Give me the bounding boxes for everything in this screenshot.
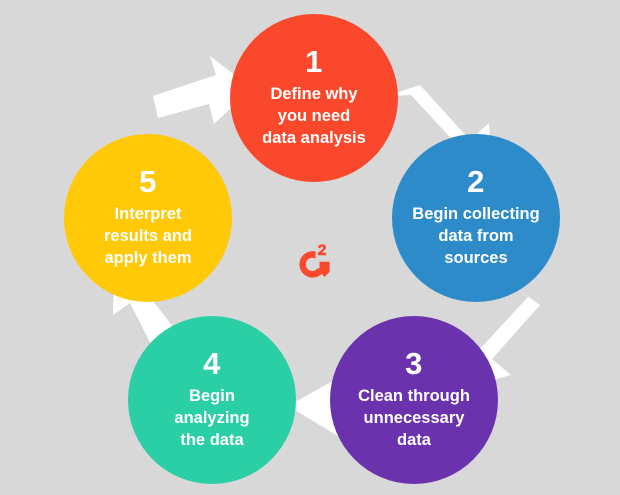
step-node-3[interactable]: 3 Clean through unnecessary data xyxy=(330,316,498,484)
step-node-2[interactable]: 2 Begin collecting data from sources xyxy=(392,134,560,302)
step-number: 2 xyxy=(467,166,485,197)
step-label: Define why you need data analysis xyxy=(251,84,377,150)
step-label: Interpret results and apply them xyxy=(93,204,203,270)
step-number: 1 xyxy=(305,46,323,77)
step-number: 3 xyxy=(405,348,423,379)
step-number: 5 xyxy=(139,166,157,197)
step-label: Begin collecting data from sources xyxy=(401,204,550,270)
g2-logo-icon xyxy=(288,238,336,286)
step-node-4[interactable]: 4 Begin analyzing the data xyxy=(128,316,296,484)
step-number: 4 xyxy=(203,348,221,379)
step-node-1[interactable]: 1 Define why you need data analysis xyxy=(230,14,398,182)
step-label: Clean through unnecessary data xyxy=(347,386,481,452)
cycle-diagram: 1 Define why you need data analysis 2 Be… xyxy=(0,0,620,495)
step-node-5[interactable]: 5 Interpret results and apply them xyxy=(64,134,232,302)
step-label: Begin analyzing the data xyxy=(163,386,260,452)
